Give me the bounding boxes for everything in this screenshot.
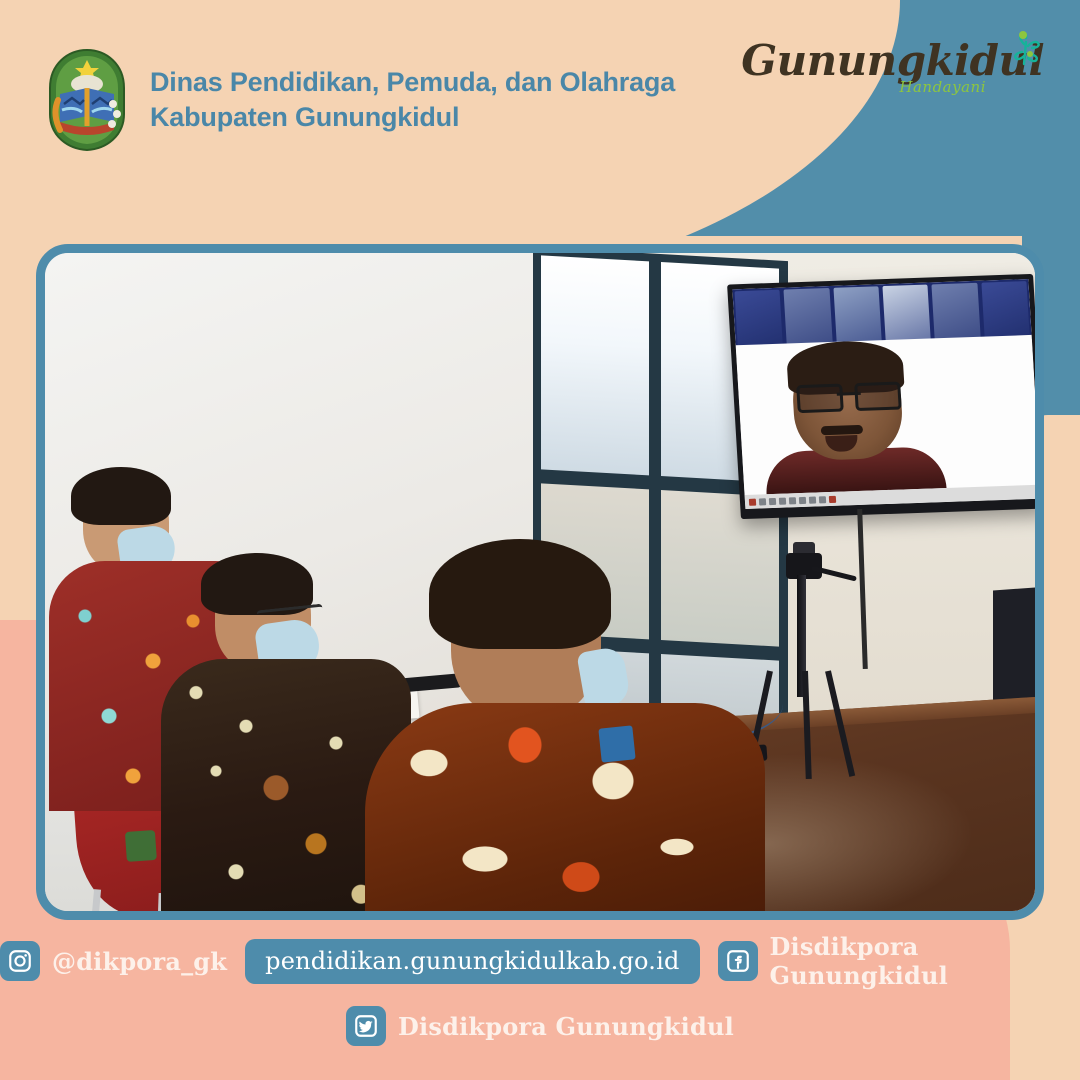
page-title: Dinas Pendidikan, Pemuda, dan Olahraga K… (150, 65, 675, 134)
footer-social-links: @dikpora_gk pendidikan.gunungkidulkab.go… (0, 932, 1080, 1046)
gunungkidul-regency-crest-icon (46, 48, 128, 152)
dragonfly-logo-icon (994, 24, 1048, 78)
twitter-icon[interactable] (346, 1006, 386, 1046)
wall-mounted-tv-icon (727, 274, 1035, 519)
twitter-handle: Disdikpora Gunungkidul (398, 1012, 734, 1041)
tv-screen (732, 279, 1035, 509)
photo-content (45, 253, 1035, 911)
shirt-patch (598, 725, 635, 762)
org-line-2: Kabupaten Gunungkidul (150, 102, 459, 132)
instagram-icon[interactable] (0, 941, 40, 981)
gunungkidul-brand: Gunungkidul Handayani (741, 40, 1044, 96)
facebook-handle: Disdikpora Gunungkidul (770, 932, 1080, 990)
video-call-speaker (736, 335, 1035, 495)
meeting-photo (36, 244, 1044, 920)
website-url[interactable]: pendidikan.gunungkidulkab.go.id (245, 939, 699, 984)
facebook-icon[interactable] (718, 941, 758, 981)
footer-row-primary: @dikpora_gk pendidikan.gunungkidulkab.go… (0, 932, 1080, 990)
instagram-link[interactable]: @dikpora_gk (0, 941, 227, 981)
batik-shirt (365, 703, 765, 911)
instagram-handle: @dikpora_gk (52, 947, 227, 976)
footer-row-secondary: Disdikpora Gunungkidul (0, 1006, 1080, 1046)
facebook-link[interactable]: Disdikpora Gunungkidul (718, 932, 1080, 990)
header: Dinas Pendidikan, Pemuda, dan Olahraga K… (46, 48, 675, 152)
social-media-poster: Dinas Pendidikan, Pemuda, dan Olahraga K… (0, 0, 1080, 1080)
org-line-1: Dinas Pendidikan, Pemuda, dan Olahraga (150, 67, 675, 97)
twitter-link[interactable]: Disdikpora Gunungkidul (346, 1006, 734, 1046)
